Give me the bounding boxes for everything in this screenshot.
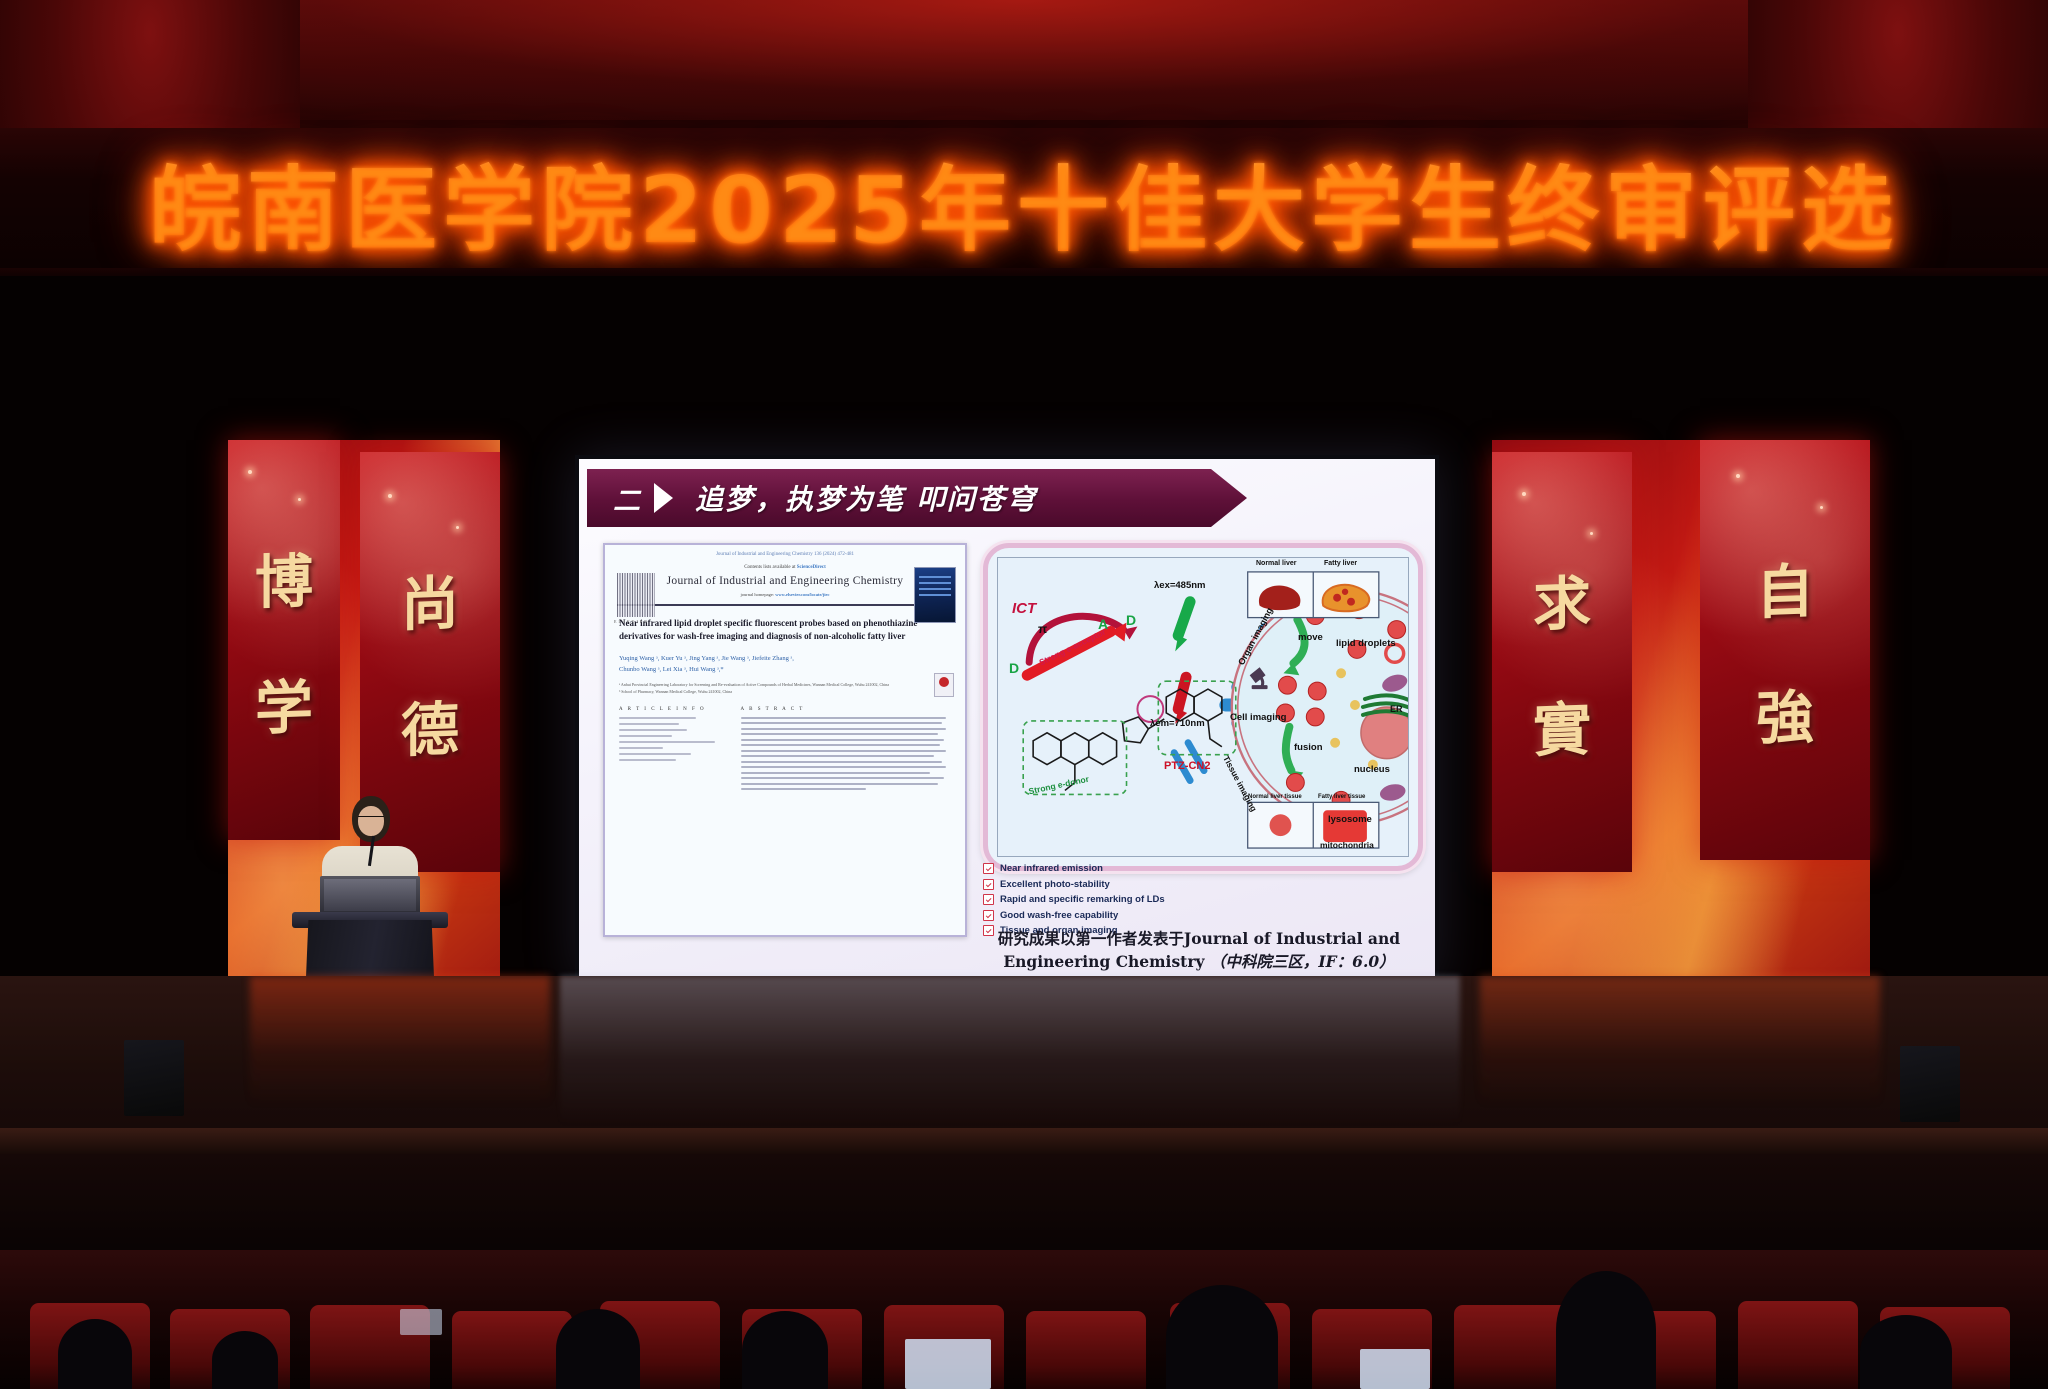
graphical-abstract-figure: ICT π D A D Strong e-acceptor Strong e-d… (983, 543, 1423, 871)
bullet-label: Rapid and specific remarking of LDs (1000, 894, 1165, 905)
bullet-label: Good wash-free capability (1000, 910, 1118, 921)
caption-line-2-cn: （中科院三区，IF：6.0） (1210, 952, 1395, 971)
figure-label-normal-liver-tissue: Normal liver tissue (1248, 794, 1302, 800)
checkbox-checked-icon (983, 879, 994, 890)
paper-contents-line: Contents lists available at ScienceDirec… (605, 565, 965, 570)
checkbox-checked-icon (983, 910, 994, 921)
figure-label-normal-liver: Normal liver (1256, 560, 1296, 567)
journal-cover-thumbnail (914, 567, 956, 623)
stage-edge (0, 1128, 2048, 1154)
figure-label-er: ER (1390, 704, 1403, 714)
stage-monitor-speaker-right (1900, 1046, 1960, 1122)
figure-label-move: move (1298, 632, 1323, 643)
journal-homepage-link[interactable]: www.elsevier.com/locate/jiec (775, 592, 829, 597)
figure-label-pi: π (1038, 622, 1047, 636)
paper-authors-line-2: Chunbo Wang ᵃ, Lei Xia ᵃ, Hui Wang ᵃ,* (619, 664, 951, 675)
abstract-body (741, 717, 947, 791)
calligraphy-banner-shangde: 尚 德 (360, 452, 500, 872)
checkbox-checked-icon (983, 894, 994, 905)
figure-label-lipid-droplets: lipid droplets (1336, 638, 1396, 649)
crossmark-badge-icon (934, 673, 954, 697)
list-item: Near infrared emission (983, 863, 1283, 874)
slide-section-title: 追梦，执梦为笔 叩问苍穹 (695, 478, 1037, 518)
figure-label-acceptor-d: D (1126, 612, 1136, 628)
stage-monitor-speaker-left (124, 1040, 184, 1116)
figure-label-cell-imaging: Cell imaging (1230, 712, 1286, 723)
floor-screen-reflection (560, 976, 1460, 1126)
figure-svg (998, 558, 1408, 856)
chevron-right-icon (654, 483, 673, 513)
figure-label-probe-name: PTZ-CN2 (1164, 760, 1210, 772)
calligraphy-banner-ziqiang: 自 強 (1700, 440, 1870, 860)
banner-char: 求 (1533, 556, 1591, 642)
figure-label-fusion: fusion (1294, 742, 1323, 753)
projection-screen: 二 追梦，执梦为笔 叩问苍穹 Journal of Industrial and… (575, 455, 1439, 985)
slide-caption: 研究成果以第一作者发表于Journal of Industrial and En… (973, 927, 1425, 974)
audience-area (0, 1250, 2048, 1389)
banner-char: 博 (255, 534, 313, 620)
caption-line-2-en: Engineering Chemistry (1003, 952, 1204, 971)
figure-label-lysosome: lysosome (1328, 814, 1372, 825)
figure-label-donor: D (1009, 660, 1019, 676)
led-title-banner: 皖南医学院2025年十佳大学生终审评选 (0, 128, 2048, 276)
paper-authors-line-1: Yuqing Wang ᵃ, Kuer Yu ᵃ, Jing Yang ᵃ, J… (619, 653, 951, 664)
caption-line-1: 研究成果以第一作者发表于Journal of Industrial and (973, 927, 1425, 950)
elsevier-wordmark: ELSEVIER (614, 619, 649, 624)
banner-char: 学 (255, 660, 313, 746)
calligraphy-banner-boxue: 博 学 (228, 440, 340, 840)
homepage-prefix: journal homepage: (740, 592, 774, 597)
list-item: Good wash-free capability (983, 910, 1283, 921)
contents-prefix: Contents lists available at (744, 565, 795, 570)
presentation-slide: 二 追梦，执梦为笔 叩问苍穹 Journal of Industrial and… (579, 459, 1435, 981)
paper-title: Near infrared lipid droplet specific flu… (619, 617, 951, 643)
banner-char: 實 (1533, 682, 1591, 768)
floor-red-reflection-right (1480, 976, 1880, 1106)
banner-char: 自 (1756, 544, 1814, 630)
banner-char: 尚 (401, 556, 459, 642)
figure-label-lambda-em: λem=710nm (1150, 718, 1205, 729)
banner-char: 強 (1756, 670, 1814, 756)
article-info-heading: A R T I C L E I N F O (619, 707, 729, 712)
figure-label-mitochondria: mitochondria (1320, 840, 1374, 850)
slide-section-number: 二 (613, 479, 640, 518)
figure-label-fatty-liver: Fatty liver (1324, 560, 1357, 567)
paper-affiliation-1: ᵃ Anhui Provincial Engineering Laborator… (619, 682, 951, 689)
sciencedirect-link[interactable]: ScienceDirect (797, 565, 826, 570)
banner-char: 德 (401, 682, 459, 768)
slide-header-banner: 二 追梦，执梦为笔 叩问苍穹 (587, 469, 1247, 527)
auditorium-stage-photo: 皖南医学院2025年十佳大学生终审评选 博 学 尚 德 求 實 自 (0, 0, 2048, 1389)
stage-apron (0, 1154, 2048, 1264)
list-item: Rapid and specific remarking of LDs (983, 894, 1283, 905)
paper-divider (617, 604, 953, 606)
elsevier-tree-logo-icon (617, 573, 655, 617)
paper-top-citation: Journal of Industrial and Engineering Ch… (605, 552, 965, 557)
figure-label-fatty-liver-tissue: Fatty liver tissue (1318, 794, 1365, 800)
figure-label-ict: ICT (1012, 600, 1036, 617)
checkbox-checked-icon (983, 863, 994, 874)
floor-red-reflection-left (250, 976, 550, 1106)
article-info-body (619, 717, 729, 761)
led-banner-text: 皖南医学院2025年十佳大学生终审评选 (149, 136, 1899, 269)
list-item: Excellent photo-stability (983, 879, 1283, 890)
paper-journal-name: Journal of Industrial and Engineering Ch… (605, 575, 965, 587)
paper-homepage-line: journal homepage: www.elsevier.com/locat… (605, 592, 965, 597)
calligraphy-banner-qiushi: 求 實 (1492, 452, 1632, 872)
hall-wall-glow (120, 0, 1920, 120)
figure-label-nucleus: nucleus (1354, 764, 1390, 775)
journal-paper-card: Journal of Industrial and Engineering Ch… (603, 543, 967, 937)
podium-laptop (320, 876, 420, 916)
bullet-label: Near infrared emission (1000, 863, 1103, 874)
bullet-label: Excellent photo-stability (1000, 879, 1110, 890)
paper-affiliation-2: ᵇ School of Pharmacy, Wannan Medical Col… (619, 689, 951, 696)
abstract-heading: A B S T R A C T (741, 707, 947, 712)
figure-label-lambda-ex: λex=485nm (1154, 580, 1206, 591)
